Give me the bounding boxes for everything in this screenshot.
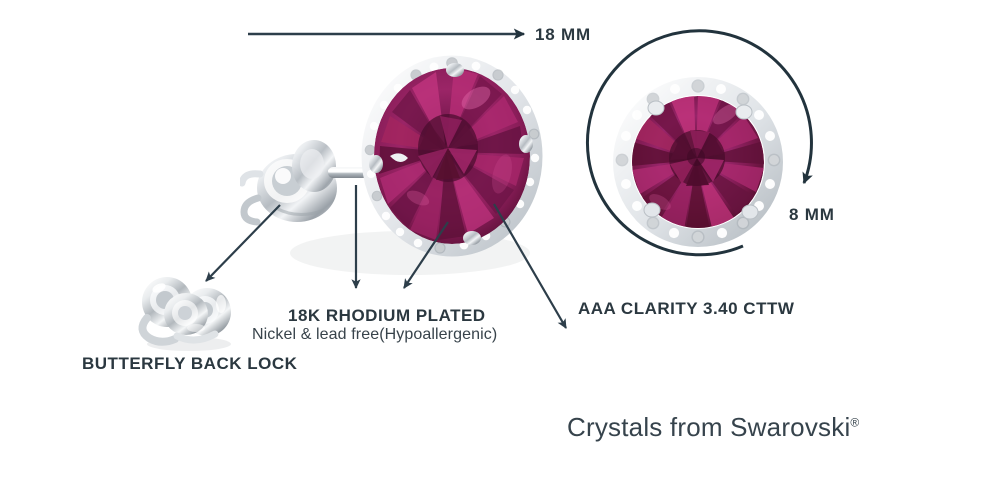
feature-title-clarity: AAA CLARITY 3.40 CTTW <box>578 299 794 319</box>
butterfly-back-svg <box>133 268 245 352</box>
brand-credit: Crystals from Swarovski® <box>567 412 859 443</box>
earring-front-svg <box>598 62 798 262</box>
earring-main-photo <box>240 48 550 298</box>
clutch-on-post <box>242 140 337 222</box>
trademark-symbol: ® <box>850 415 859 429</box>
butterfly-back-lock-photo <box>133 268 245 352</box>
feature-title-back-lock: BUTTERFLY BACK LOCK <box>82 354 297 374</box>
brand-text: Crystals from Swarovski <box>567 412 850 442</box>
dimension-label-width: 18 MM <box>535 25 591 45</box>
earring-main-svg <box>240 48 550 298</box>
earring-front-photo <box>598 62 798 262</box>
product-infographic: 18 MM 8 MM BUTTERFLY BACK LOCK 18K RHODI… <box>0 0 1000 500</box>
dimension-label-stone: 8 MM <box>789 205 835 225</box>
feature-subtitle-plating: Nickel & lead free(Hypoallergenic) <box>252 326 497 344</box>
feature-title-plating: 18K RHODIUM PLATED <box>288 306 486 326</box>
